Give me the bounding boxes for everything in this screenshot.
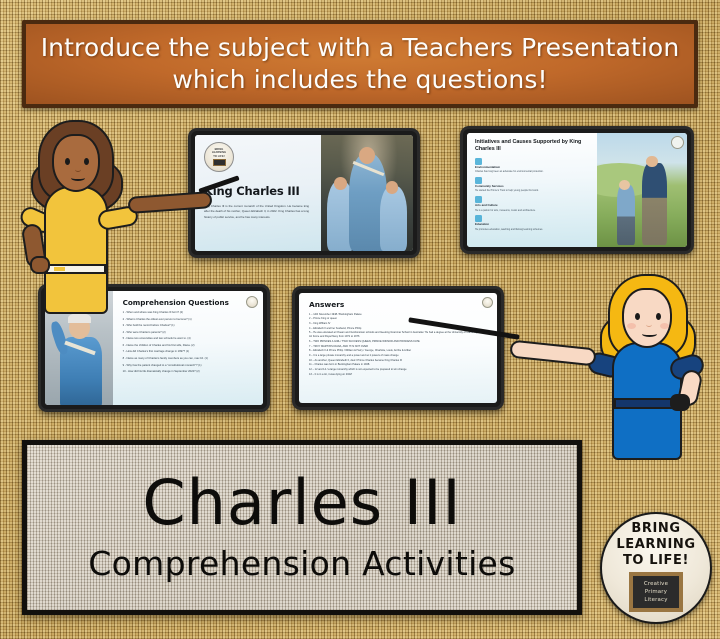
question-item: 3 - Who held the record before Charles? … xyxy=(123,324,255,328)
product-subtitle: Comprehension Activities xyxy=(88,546,515,582)
answer-item: 8 – Elizabeth II & Prince Philip / Willi… xyxy=(309,349,489,353)
brand-badge-line-1: BRING xyxy=(631,521,680,536)
initiative-heading: Environmentalism xyxy=(475,166,590,170)
brand-logo-icon xyxy=(246,296,258,308)
slide-intro-body: King Charles III is the current monarch … xyxy=(204,204,309,220)
initiative-section: Environmentalism Charles has long been a… xyxy=(475,158,590,174)
chalkboard-icon: Creative Primary Literacy xyxy=(629,572,683,612)
initiative-text: He is a patron for arts, museums, music … xyxy=(475,209,590,212)
chalk-line-2: Primary xyxy=(645,588,667,596)
answer-item: 6 – TWO PRINCES A GIRL / TWO SUCCESS QUE… xyxy=(309,340,489,344)
face xyxy=(622,288,672,348)
royal-portrait-image xyxy=(321,135,413,251)
question-item: 5 - Name two universities and two school… xyxy=(123,337,255,341)
mouth xyxy=(71,175,85,181)
king-and-child-image xyxy=(597,133,687,247)
brand-logo-icon: BRING LEARNING TO LIFE! xyxy=(204,142,234,172)
initiative-section: Education He promotes education, teachin… xyxy=(475,215,590,231)
eye-left xyxy=(65,158,70,165)
question-item: 9 - Why has the patient changed to a "co… xyxy=(123,364,255,368)
book-icon xyxy=(475,215,482,222)
eye-right xyxy=(84,158,89,165)
chalk-line-1: Creative xyxy=(644,580,668,588)
brand-badge-line-3: TO LIFE! xyxy=(623,553,689,568)
initiative-text: Charles has long been an advocate for en… xyxy=(475,170,590,173)
brand-badge: BRING LEARNING TO LIFE! Creative Primary… xyxy=(600,512,712,624)
slide-answers-title: Answers xyxy=(309,300,489,309)
answer-item: 1 – 14th November 1948 / Buckingham Pala… xyxy=(309,313,489,317)
nose xyxy=(646,322,652,327)
teacher-right-illustration xyxy=(584,270,714,455)
initiative-section: Community Services He started the Prince… xyxy=(475,177,590,193)
answer-item: 13 – It is in a lot, it was dying on 202… xyxy=(309,373,489,377)
initiative-heading: Education xyxy=(475,223,590,227)
slide-card-intro[interactable]: BRING LEARNING TO LIFE! King Charles III… xyxy=(188,128,420,258)
slide-questions-title: Comprehension Questions xyxy=(123,298,255,307)
question-item: 10 - How did his life dramatically chang… xyxy=(123,370,255,374)
slide-initiatives-title: Initiatives and Causes Supported by King… xyxy=(475,139,590,154)
people-icon xyxy=(475,177,482,184)
question-item: 8 - Name as many of Charles's family mem… xyxy=(123,357,255,361)
answer-item: 10 – As another, Queen Elizabeth II, die… xyxy=(309,359,489,363)
slide-card-answers[interactable]: Answers 1 – 14th November 1948 / Bucking… xyxy=(292,286,504,410)
answer-item: 7 – TROY MARTIN'S DIANA, AND IT IS NOT O… xyxy=(309,345,489,349)
question-item: 2 - What is Charles the oldest ever pers… xyxy=(123,318,255,322)
chalkboard-icon xyxy=(213,159,226,166)
dress xyxy=(44,186,108,314)
answer-item: 5 – He was educated at Cheam and Gordons… xyxy=(309,331,489,339)
answer-item: 11 – Charles was born in Buckingham Pala… xyxy=(309,363,489,367)
answer-item: 9 – It is a large private monarchy and a… xyxy=(309,354,489,358)
slide-intro-content: BRING LEARNING TO LIFE! King Charles III… xyxy=(195,135,321,251)
logo-line-3: TO LIFE! xyxy=(213,155,225,158)
nose xyxy=(75,167,81,172)
headline-banner: Introduce the subject with a Teachers Pr… xyxy=(22,20,698,108)
blush-left xyxy=(627,323,636,329)
hand-on-hip xyxy=(30,256,50,274)
question-item: 7 - How did Charles's first marriage cha… xyxy=(123,350,255,354)
brand-badge-line-2: LEARNING xyxy=(616,537,695,552)
hand-on-hip xyxy=(670,394,690,411)
answer-item: 12 – 12 and 14 / a large monarchy which … xyxy=(309,368,489,372)
initiative-section: Arts and Culture He is a patron for arts… xyxy=(475,196,590,212)
headline-text: Introduce the subject with a Teachers Pr… xyxy=(26,32,694,96)
teacher-left-illustration xyxy=(18,112,138,312)
belt xyxy=(46,264,106,274)
brand-logo-icon xyxy=(482,297,493,308)
product-title: Charles III xyxy=(142,472,461,534)
brand-logo-icon xyxy=(671,136,684,149)
question-item: 4 - Who were Charles's parents? (2) xyxy=(123,331,255,335)
answer-item: 2 – Prince King or queen xyxy=(309,317,489,321)
face xyxy=(52,134,100,192)
leaf-icon xyxy=(475,158,482,165)
slide-initiatives-content: Initiatives and Causes Supported by King… xyxy=(467,133,597,247)
blush-right xyxy=(660,323,669,329)
product-title-block: Charles III Comprehension Activities xyxy=(22,440,582,615)
mouth xyxy=(642,331,657,337)
initiative-text: He started the Prince's Trust to help yo… xyxy=(475,189,590,192)
initiative-heading: Community Services xyxy=(475,185,590,189)
slide-card-initiatives[interactable]: Initiatives and Causes Supported by King… xyxy=(460,126,694,254)
eye-left xyxy=(635,313,640,320)
initiative-heading: Arts and Culture xyxy=(475,204,590,208)
palette-icon xyxy=(475,196,482,203)
question-item: 6 - Name the children of Charles and his… xyxy=(123,344,255,348)
chalk-line-3: Literacy xyxy=(644,596,667,604)
forearm-pointing xyxy=(509,340,596,367)
eye-right xyxy=(656,313,661,320)
poster-background: Introduce the subject with a Teachers Pr… xyxy=(0,0,720,639)
initiative-text: He promotes education, teaching and life… xyxy=(475,228,590,231)
question-item: 1 - When and where was King Charles III … xyxy=(123,311,255,315)
